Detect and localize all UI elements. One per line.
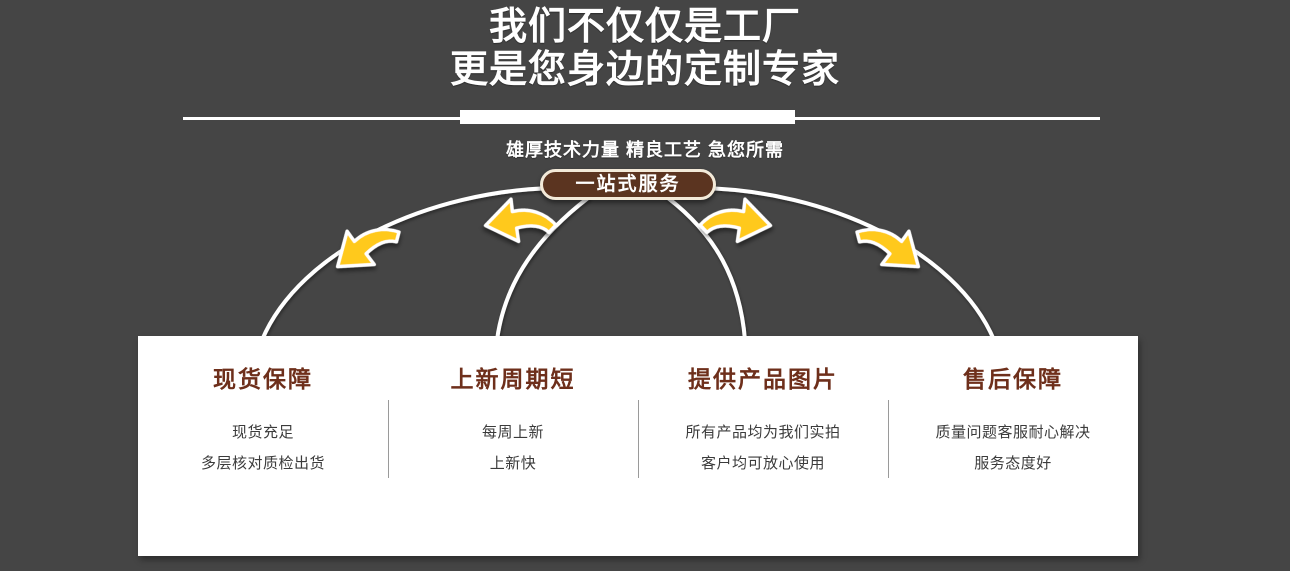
feature-line-1-1: 现货充足: [138, 422, 388, 444]
feature-column-1: 现货保障 现货充足 多层核对质检出货: [138, 336, 388, 556]
features-panel: 现货保障 现货充足 多层核对质检出货 上新周期短 每周上新 上新快 提供产品图片…: [138, 336, 1138, 556]
feature-line-1-2: 多层核对质检出货: [138, 453, 388, 475]
feature-title-3: 提供产品图片: [638, 365, 888, 393]
feature-title-2: 上新周期短: [388, 365, 638, 393]
feature-line-4-2: 服务态度好: [888, 453, 1138, 475]
feature-title-1: 现货保障: [138, 365, 388, 393]
features-columns: 现货保障 现货充足 多层核对质检出货 上新周期短 每周上新 上新快 提供产品图片…: [138, 336, 1138, 556]
feature-column-2: 上新周期短 每周上新 上新快: [388, 336, 638, 556]
feature-line-3-1: 所有产品均为我们实拍: [638, 422, 888, 444]
feature-title-4: 售后保障: [888, 365, 1138, 393]
arrow-down-right-3: [699, 186, 775, 259]
promo-banner: 我们不仅仅是工厂 更是您身边的定制专家 雄厚技术力量 精良工艺 急您所需 一站式…: [0, 0, 1290, 571]
feature-column-3: 提供产品图片 所有产品均为我们实拍 客户均可放心使用: [638, 336, 888, 556]
feature-line-4-1: 质量问题客服耐心解决: [888, 422, 1138, 444]
one-stop-service-badge: 一站式服务: [540, 169, 716, 200]
feature-line-3-2: 客户均可放心使用: [638, 453, 888, 475]
feature-column-4: 售后保障 质量问题客服耐心解决 服务态度好: [888, 336, 1138, 556]
arrow-down-left-2: [482, 186, 558, 259]
feature-line-2-2: 上新快: [388, 453, 638, 475]
feature-line-2-1: 每周上新: [388, 422, 638, 444]
